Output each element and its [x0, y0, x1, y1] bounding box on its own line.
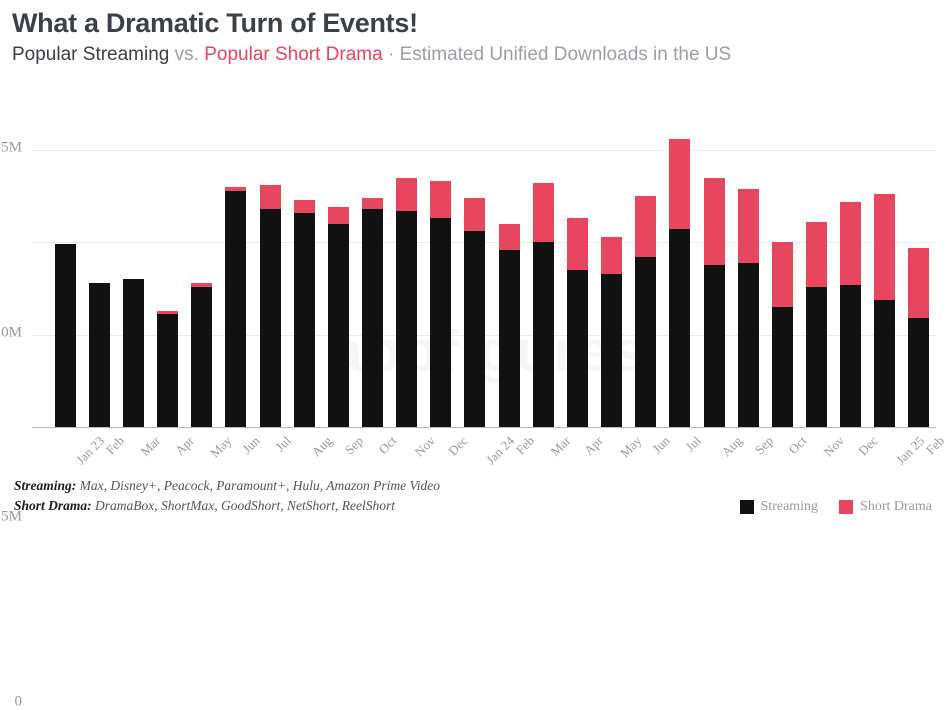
bar-group[interactable]: [328, 207, 349, 427]
bar-segment-streaming[interactable]: [499, 250, 520, 427]
footnote-streaming-label: Streaming:: [14, 478, 76, 493]
bar-segment-streaming[interactable]: [464, 231, 485, 427]
bar-segment-streaming[interactable]: [601, 274, 622, 427]
bar-segment-short-drama[interactable]: [635, 196, 656, 257]
chart-header: What a Dramatic Turn of Events! Popular …: [12, 6, 934, 68]
bar-group[interactable]: [840, 202, 861, 427]
subtitle-vs-label: vs.: [169, 44, 204, 65]
x-axis-tick-label: May: [617, 433, 645, 461]
bar-segment-streaming[interactable]: [89, 283, 110, 427]
bar-group[interactable]: [260, 185, 281, 427]
axis-baseline: 0: [32, 427, 936, 428]
x-axis-tick-label: Mar: [548, 433, 575, 460]
footnote-short-drama: Short Drama: DramaBox, ShortMax, GoodSho…: [14, 496, 440, 516]
legend-label: Short Drama: [860, 499, 932, 515]
x-axis-tick-label: Apr: [171, 433, 197, 459]
bar-series-container: [48, 150, 936, 427]
x-axis-tick-label: Jun: [239, 433, 263, 457]
bar-group[interactable]: [89, 283, 110, 427]
bar-segment-short-drama[interactable]: [704, 178, 725, 265]
bar-segment-short-drama[interactable]: [840, 202, 861, 285]
bar-segment-streaming[interactable]: [362, 209, 383, 427]
bar-segment-streaming[interactable]: [55, 244, 76, 427]
bar-segment-streaming[interactable]: [840, 285, 861, 427]
page-title: What a Dramatic Turn of Events!: [12, 6, 934, 40]
y-axis-tick-label: 15M: [0, 139, 22, 156]
bar-group[interactable]: [191, 283, 212, 427]
bar-segment-streaming[interactable]: [225, 191, 246, 427]
x-axis-tick-label: Feb: [513, 433, 538, 458]
bar-segment-streaming[interactable]: [430, 218, 451, 427]
x-axis-tick-label: Jun: [649, 433, 673, 457]
x-axis-tick-label: Sep: [752, 433, 777, 458]
bar-group[interactable]: [533, 183, 554, 427]
y-axis-tick-label: 10M: [0, 324, 22, 341]
x-axis-tick-label: Dec: [445, 433, 471, 459]
x-axis-tick-label: Feb: [923, 433, 946, 458]
bar-group[interactable]: [157, 311, 178, 427]
legend-item[interactable]: Streaming: [740, 499, 819, 515]
chart-legend: StreamingShort Drama: [728, 499, 932, 515]
bar-group[interactable]: [738, 189, 759, 427]
bar-segment-streaming[interactable]: [260, 209, 281, 427]
bar-segment-streaming[interactable]: [806, 287, 827, 427]
bar-segment-short-drama[interactable]: [464, 198, 485, 231]
x-axis-tick-label: Feb: [103, 433, 128, 458]
bar-segment-streaming[interactable]: [669, 229, 690, 427]
bar-group[interactable]: [806, 222, 827, 427]
x-axis-tick-label: Aug: [309, 433, 336, 460]
bar-segment-short-drama[interactable]: [191, 283, 212, 287]
x-axis-tick-label: Oct: [786, 433, 811, 458]
x-axis-tick-label: Apr: [581, 433, 607, 459]
bar-segment-short-drama[interactable]: [157, 311, 178, 315]
bar-segment-short-drama[interactable]: [294, 200, 315, 213]
bar-segment-short-drama[interactable]: [669, 139, 690, 229]
bar-segment-short-drama[interactable]: [328, 207, 349, 224]
bar-group[interactable]: [362, 198, 383, 427]
x-axis-tick-label: Nov: [821, 433, 848, 460]
x-axis-tick-label: Mar: [138, 433, 165, 460]
pink-square-icon: [839, 500, 853, 514]
bar-segment-streaming[interactable]: [328, 224, 349, 427]
bar-segment-streaming[interactable]: [874, 300, 895, 427]
chart-plot-area: appfigures 05M10M15M Jan 23FebMarAprMayJ…: [0, 104, 946, 444]
legend-item[interactable]: Short Drama: [839, 499, 932, 515]
subtitle-description: Estimated Unified Downloads in the US: [400, 44, 732, 65]
bar-segment-short-drama[interactable]: [567, 218, 588, 270]
bar-group[interactable]: [635, 196, 656, 427]
footnote-streaming-value: Max, Disney+, Peacock, Paramount+, Hulu,…: [76, 478, 440, 493]
bar-group[interactable]: [430, 181, 451, 427]
bar-segment-short-drama[interactable]: [533, 183, 554, 242]
bar-group[interactable]: [55, 244, 76, 427]
bar-segment-short-drama[interactable]: [908, 248, 929, 318]
subtitle-short-drama-label: Popular Short Drama: [204, 44, 382, 65]
bar-segment-short-drama[interactable]: [601, 237, 622, 274]
bar-segment-streaming[interactable]: [567, 270, 588, 427]
bar-segment-streaming[interactable]: [396, 211, 417, 427]
black-square-icon: [740, 500, 754, 514]
bar-segment-short-drama[interactable]: [396, 178, 417, 211]
bar-segment-streaming[interactable]: [533, 242, 554, 427]
x-axis-tick-label: Dec: [855, 433, 881, 459]
x-axis-tick-label: Jan 24: [483, 433, 518, 468]
bar-group[interactable]: [396, 178, 417, 427]
footnote-streaming: Streaming: Max, Disney+, Peacock, Paramo…: [14, 476, 440, 496]
bar-group[interactable]: [704, 178, 725, 427]
bar-segment-short-drama[interactable]: [499, 224, 520, 250]
bar-segment-streaming[interactable]: [738, 263, 759, 427]
bar-group[interactable]: [499, 224, 520, 427]
x-axis-tick-label: May: [207, 433, 235, 461]
bar-segment-streaming[interactable]: [191, 287, 212, 427]
bar-group[interactable]: [464, 198, 485, 427]
bar-group[interactable]: [567, 218, 588, 427]
x-axis-tick-label: Oct: [376, 433, 401, 458]
chart-canvas: 05M10M15M Jan 23FebMarAprMayJunJulAugSep…: [48, 150, 936, 427]
x-axis-tick-label: Jul: [682, 433, 704, 455]
bar-segment-short-drama[interactable]: [874, 194, 895, 299]
bar-segment-short-drama[interactable]: [738, 189, 759, 263]
bar-group[interactable]: [669, 139, 690, 427]
bar-segment-streaming[interactable]: [772, 307, 793, 427]
bar-segment-short-drama[interactable]: [260, 185, 281, 209]
chart-subtitle: Popular Streaming vs. Popular Short Dram…: [12, 42, 934, 68]
legend-label: Streaming: [761, 499, 819, 515]
x-axis-tick-label: Aug: [719, 433, 746, 460]
x-axis-tick-label: Jul: [272, 433, 294, 455]
bar-segment-short-drama[interactable]: [225, 187, 246, 191]
x-axis-tick-label: Sep: [342, 433, 367, 458]
bar-segment-short-drama[interactable]: [772, 242, 793, 307]
bar-group[interactable]: [772, 242, 793, 427]
bar-segment-streaming[interactable]: [908, 318, 929, 427]
footnote-short-drama-value: DramaBox, ShortMax, GoodShort, NetShort,…: [92, 498, 395, 513]
bar-group[interactable]: [294, 200, 315, 427]
bar-group[interactable]: [225, 187, 246, 427]
subtitle-streaming-label: Popular Streaming: [12, 44, 169, 65]
bar-group[interactable]: [874, 194, 895, 427]
bar-segment-streaming[interactable]: [294, 213, 315, 427]
bar-segment-streaming[interactable]: [157, 314, 178, 427]
bar-segment-streaming[interactable]: [635, 257, 656, 427]
bar-segment-short-drama[interactable]: [362, 198, 383, 209]
footnote-short-drama-label: Short Drama:: [14, 498, 92, 513]
bar-segment-streaming[interactable]: [704, 265, 725, 428]
x-axis-tick-label: Jan 23: [73, 433, 108, 468]
bar-segment-short-drama[interactable]: [430, 181, 451, 218]
x-axis-tick-label: Nov: [411, 433, 438, 460]
footnotes: Streaming: Max, Disney+, Peacock, Paramo…: [14, 476, 440, 516]
bar-group[interactable]: [601, 237, 622, 427]
subtitle-separator: ·: [383, 44, 400, 65]
bar-segment-streaming[interactable]: [123, 279, 144, 427]
y-axis-tick-label: 0: [15, 693, 23, 710]
x-axis-tick-label: Jan 25: [893, 433, 928, 468]
bar-group[interactable]: [123, 279, 144, 427]
bar-group[interactable]: [908, 248, 929, 427]
bar-segment-short-drama[interactable]: [806, 222, 827, 287]
